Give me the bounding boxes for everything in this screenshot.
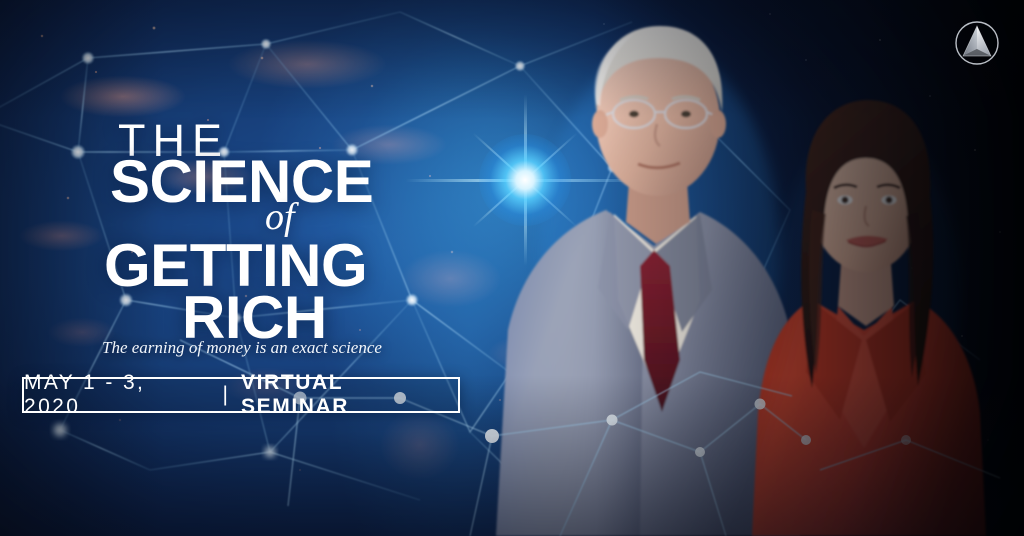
event-format: VIRTUAL SEMINAR bbox=[241, 371, 458, 419]
bar-separator: | bbox=[210, 383, 241, 407]
headline-connector-of: of bbox=[265, 198, 295, 236]
promo-banner: THE SCIENCE of GETTING RICH The earning … bbox=[0, 0, 1024, 536]
headline-line-science: SCIENCE bbox=[110, 152, 373, 212]
event-details-bar: MAY 1 - 3, 2020 | VIRTUAL SEMINAR bbox=[22, 377, 460, 413]
tagline: The earning of money is an exact science bbox=[102, 338, 382, 358]
pyramid-in-circle-logo bbox=[950, 16, 1004, 70]
event-dates: MAY 1 - 3, 2020 bbox=[24, 371, 210, 419]
headline-block: THE SCIENCE of GETTING RICH The earning … bbox=[0, 0, 520, 536]
